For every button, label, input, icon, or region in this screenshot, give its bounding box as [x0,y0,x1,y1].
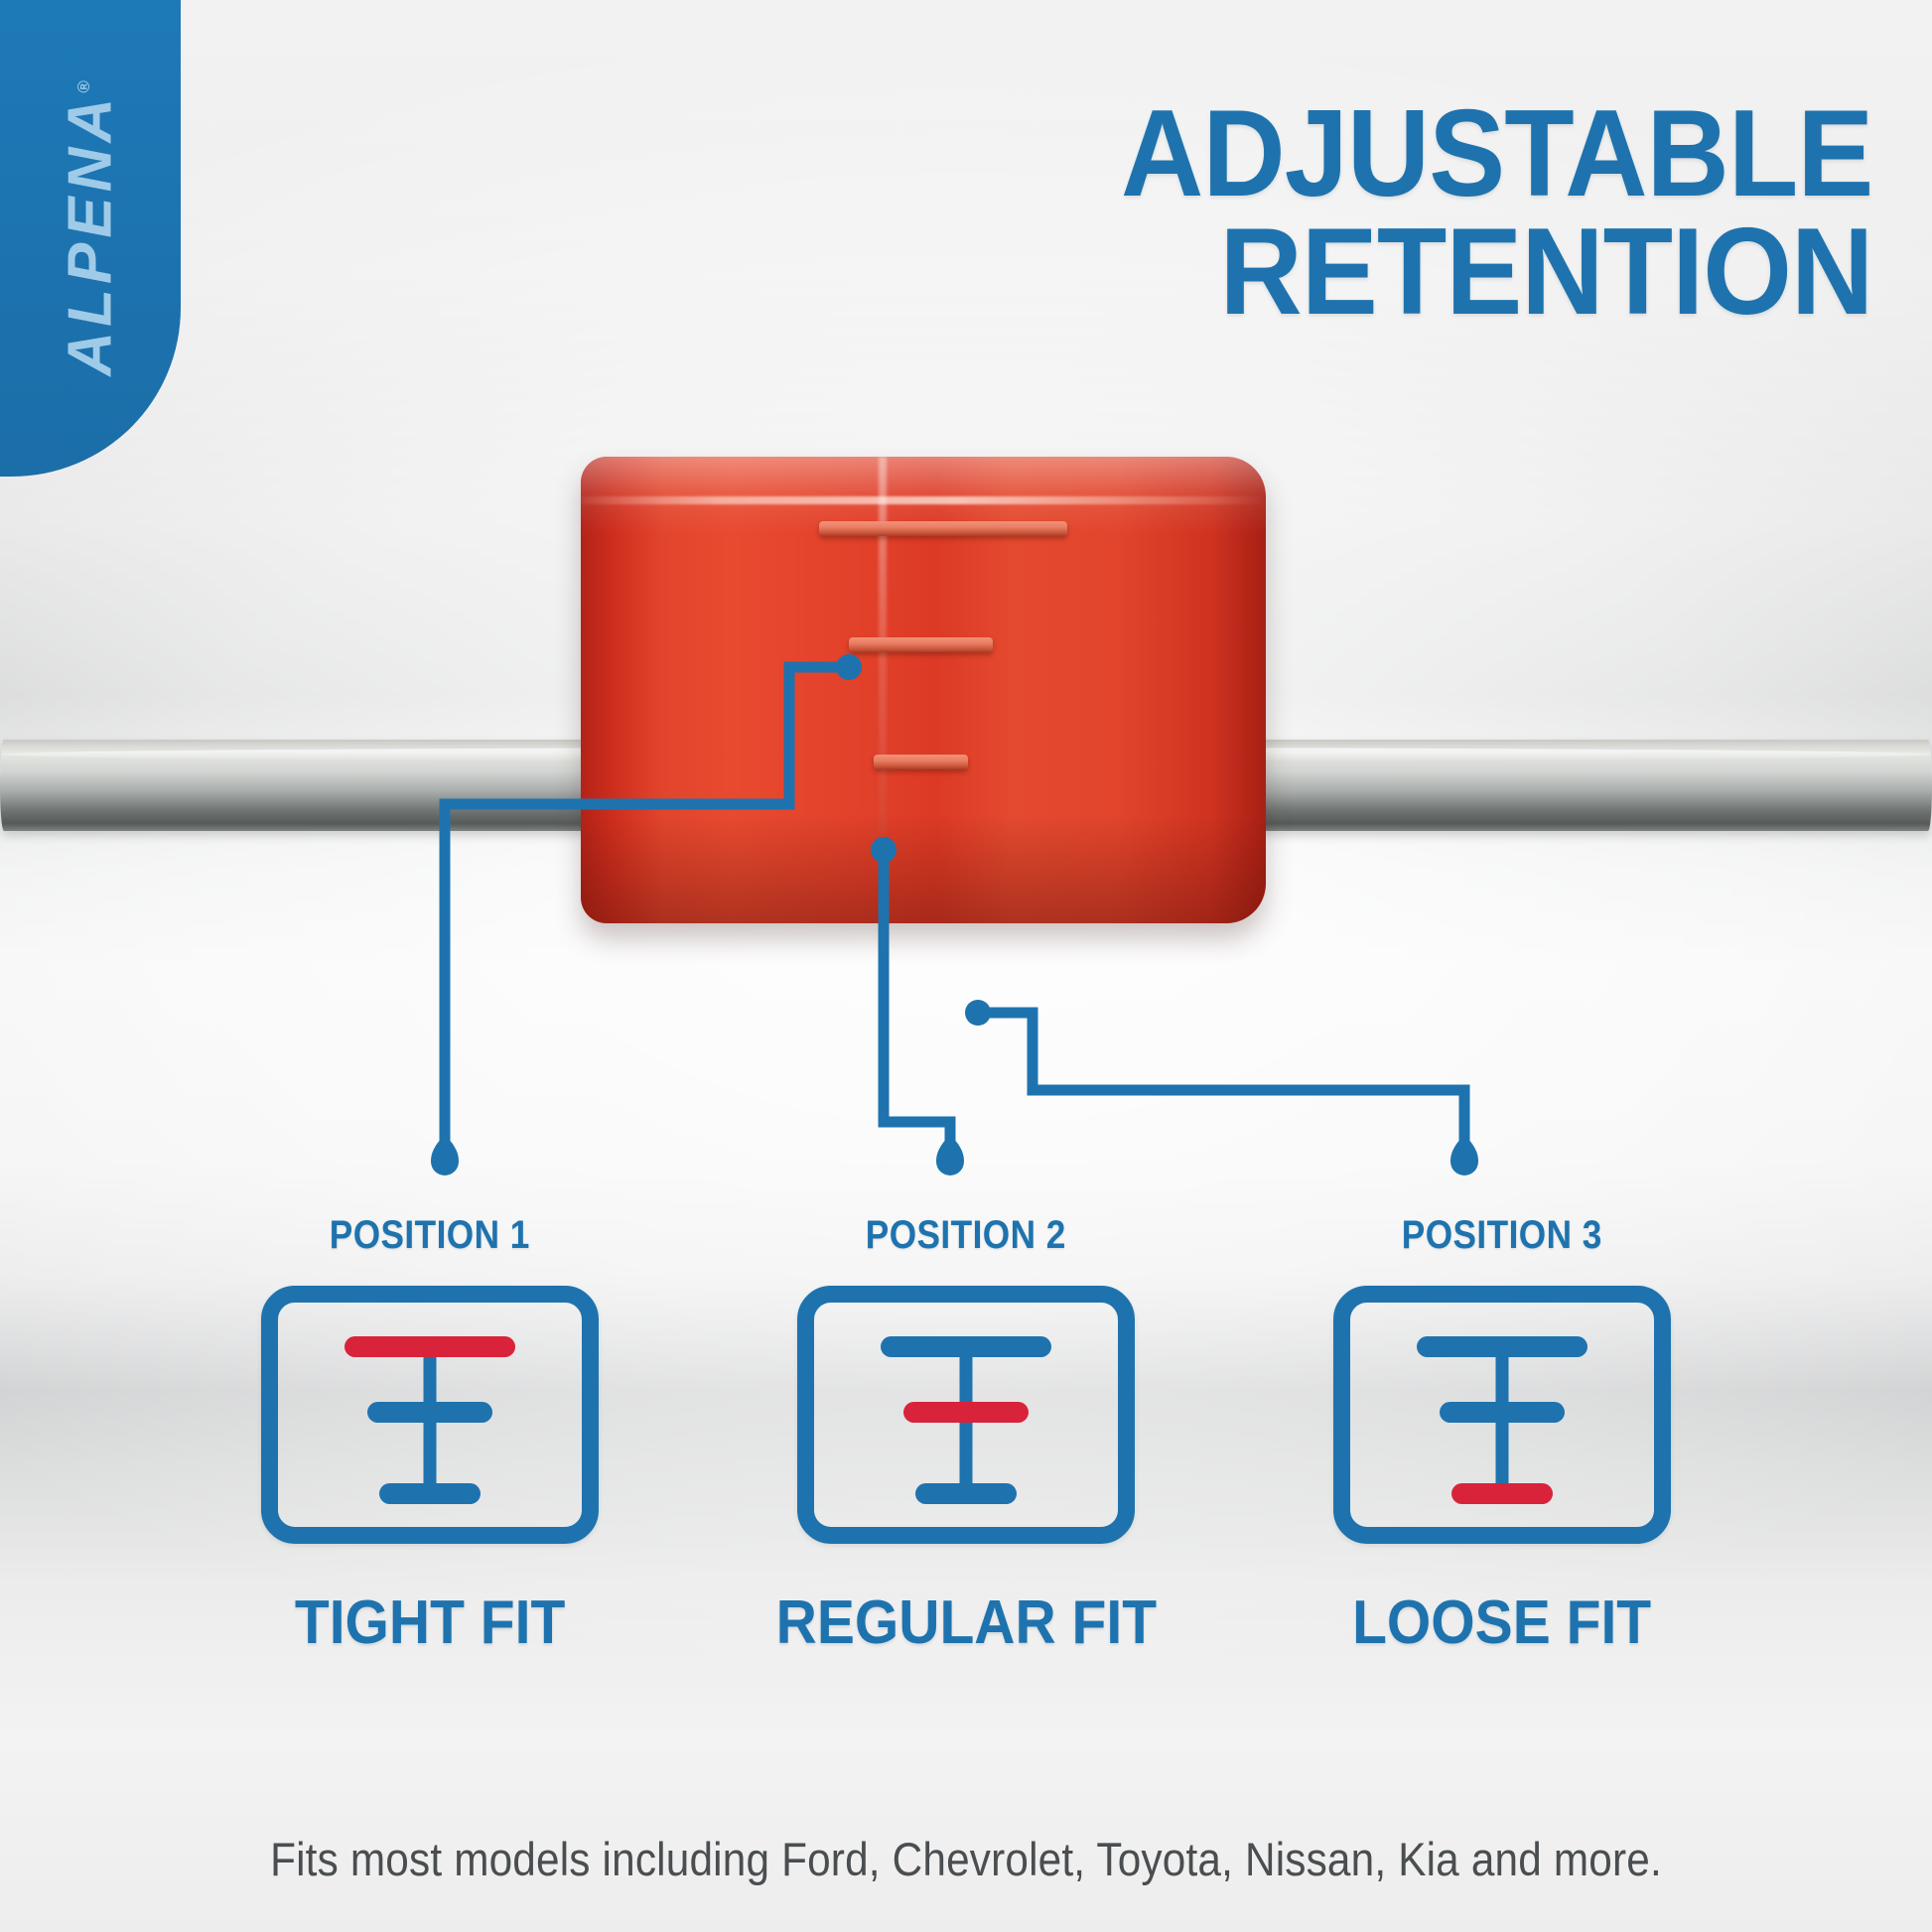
leader-anchor-position-3 [965,1000,991,1026]
leader-endpoint-position-1 [431,1135,459,1175]
leader-endpoint-position-3 [1450,1135,1478,1175]
position-labels-row: POSITION 1 POSITION 2 POSITION 3 [162,1213,1770,1258]
bar-position-2 [367,1402,492,1423]
page-title: ADJUSTABLE RETENTION [1121,95,1872,332]
bar-position-1 [345,1336,515,1357]
leader-endpoint-position-2 [936,1135,964,1175]
page-title-line-1: ADJUSTABLE [1121,85,1872,222]
fit-diagram-icon-tight [261,1286,599,1544]
sleeve-bottom-shadow [581,814,1266,923]
bar-position-3 [915,1483,1017,1504]
position-label-cell-3: POSITION 3 [1234,1213,1770,1258]
bar-position-1 [1417,1336,1587,1357]
compatibility-note: Fits most models including Ford, Chevrol… [96,1832,1835,1886]
brand-name: ALPENA [57,93,125,376]
leader-line-position-3 [978,1013,1464,1152]
product-photo [0,576,1932,973]
fit-label-loose: LOOSE FIT [1352,1587,1651,1658]
position-label-3: POSITION 3 [1402,1213,1602,1258]
bar-position-2 [903,1402,1029,1423]
fit-cards-row: TIGHT FIT REGULAR FIT LOOSE FIT [162,1286,1770,1658]
page-title-line-2: RETENTION [1121,213,1872,332]
ridge-position-3 [874,755,968,769]
brand-tab: ALPENA® [0,0,181,477]
fit-card-tight[interactable]: TIGHT FIT [162,1286,698,1658]
fit-label-regular: REGULAR FIT [775,1587,1156,1658]
bar-position-2 [1440,1402,1565,1423]
position-label-1: POSITION 1 [330,1213,530,1258]
fit-diagram-icon-loose [1333,1286,1671,1544]
position-label-cell-1: POSITION 1 [162,1213,698,1258]
bar-position-1 [881,1336,1051,1357]
fit-card-loose[interactable]: LOOSE FIT [1234,1286,1770,1658]
ridge-position-2 [849,637,993,652]
fit-label-tight: TIGHT FIT [295,1587,565,1658]
red-sleeve [581,457,1266,923]
fit-card-regular[interactable]: REGULAR FIT [698,1286,1234,1658]
trademark-symbol: ® [74,80,93,93]
position-label-cell-2: POSITION 2 [698,1213,1234,1258]
ridge-position-1 [819,521,1067,536]
infographic-canvas: ALPENA® ADJUSTABLE RETENTION [0,0,1932,1932]
bar-position-3 [379,1483,481,1504]
position-label-2: POSITION 2 [866,1213,1066,1258]
sleeve-top-seam [581,496,1266,504]
brand-logo: ALPENA® [56,80,126,375]
bar-position-3 [1451,1483,1553,1504]
fit-diagram-icon-regular [797,1286,1135,1544]
